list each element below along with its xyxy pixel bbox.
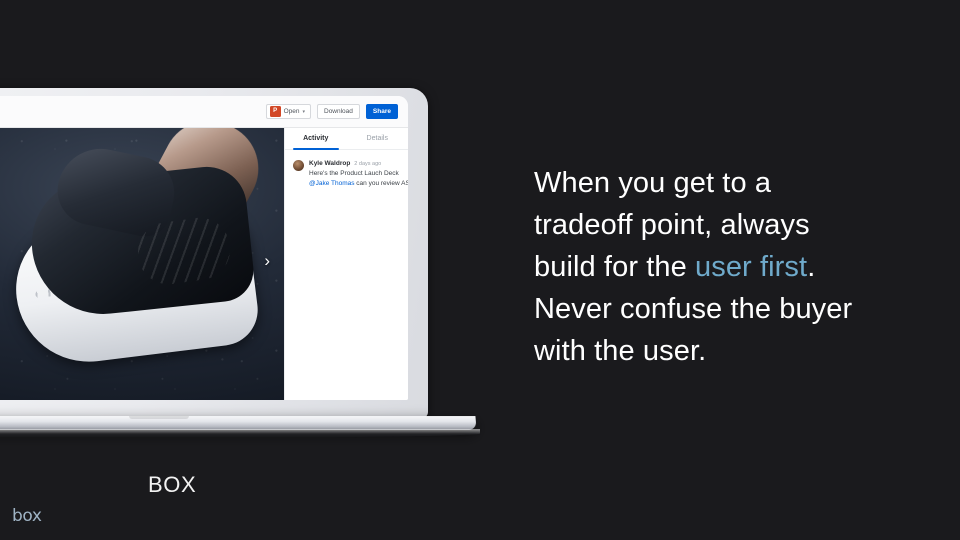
comment-text-line-1: Here's the Product Lauch Deck [309,170,401,177]
sidebar-tabs: Activity Details [285,128,408,150]
open-button-label: Open [284,108,303,115]
quote-line-5: with the user. [534,335,706,367]
comment-text-rest: can you review ASAP [355,180,409,187]
caption-label: BOX [148,472,196,498]
share-button[interactable]: Share [366,104,398,119]
app-header: ...nch_Marketing_Plan.ppt ▾ P Open ▾ Dow… [0,96,408,128]
quote-line-3-suffix: . [807,251,815,283]
quote-line-2: tradeoff point, always [534,209,810,241]
comment-header: Kyle Waldrop 2 days ago [309,160,401,167]
tab-activity[interactable]: Activity [285,128,347,149]
laptop-screen: ...nch_Marketing_Plan.ppt ▾ P Open ▾ Dow… [0,96,408,400]
avatar [293,160,304,171]
slide-canvas: ...nch_Marketing_Plan.ppt ▾ P Open ▾ Dow… [0,0,960,540]
comment-timestamp: 2 days ago [354,161,381,167]
laptop-mockup: ...nch_Marketing_Plan.ppt ▾ P Open ▾ Dow… [0,88,428,418]
document-preview[interactable]: ...duct ...nch ...rketing ...n Team › ⌕ … [0,128,284,400]
comment-text-line-2: @Jake Thomas can you review ASAP [309,180,401,187]
quote-highlight: user first [695,251,807,283]
powerpoint-icon: P [270,106,281,117]
mention-link[interactable]: @Jake Thomas [309,180,355,187]
laptop-base-shadow [0,429,480,438]
quote-line-3-prefix: build for the [534,251,695,283]
chevron-down-icon: ▾ [302,109,310,115]
shoe-photo [0,136,284,386]
next-slide-arrow-icon[interactable]: › [264,252,270,269]
tab-details[interactable]: Details [347,128,409,149]
quote-line-1: When you get to a [534,167,771,199]
open-button[interactable]: P Open ▾ [266,104,311,119]
box-logo: box [12,506,42,526]
activity-sidebar: Activity Details Kyle Waldrop 2 days ago… [284,128,408,400]
download-button[interactable]: Download [317,104,360,119]
quote-line-4: Never confuse the buyer [534,293,852,325]
activity-comment: Kyle Waldrop 2 days ago Here's the Produ… [285,150,408,187]
laptop-base [0,416,477,430]
comment-body: Kyle Waldrop 2 days ago Here's the Produ… [309,160,401,187]
header-actions: P Open ▾ Download Share [266,104,408,119]
comment-author: Kyle Waldrop [309,160,350,167]
quote-text: When you get to a tradeoff point, always… [534,162,934,372]
